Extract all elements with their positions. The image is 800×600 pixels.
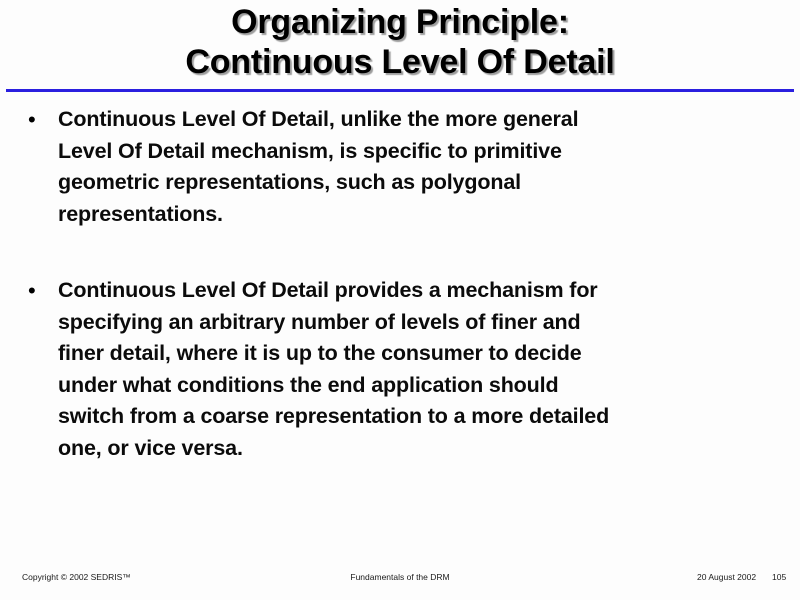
slide-canvas: Organizing Principle: Continuous Level O… bbox=[0, 0, 800, 600]
bullet-line: Level Of Detail mechanism, is specific t… bbox=[58, 136, 786, 168]
bullet-text: Continuous Level Of Detail provides a me… bbox=[58, 275, 786, 464]
bullet-line: representations. bbox=[58, 199, 786, 231]
slide-title: Organizing Principle: Continuous Level O… bbox=[0, 2, 800, 82]
bullet-line: specifying an arbitrary number of levels… bbox=[58, 307, 786, 339]
bullet-dot-icon: • bbox=[28, 275, 36, 306]
title-divider-rule bbox=[6, 89, 794, 92]
footer-deck-title: Fundamentals of the DRM bbox=[0, 572, 800, 582]
title-line-1: Organizing Principle: bbox=[0, 2, 800, 42]
bullet-dot-icon: • bbox=[28, 104, 36, 135]
bullet-line: Continuous Level Of Detail provides a me… bbox=[58, 275, 786, 307]
bullet-line: geometric representations, such as polyg… bbox=[58, 167, 786, 199]
footer-date: 20 August 2002 bbox=[697, 572, 756, 582]
bullet-line: under what conditions the end applicatio… bbox=[58, 370, 786, 402]
bullet-item: • Continuous Level Of Detail provides a … bbox=[16, 275, 786, 464]
slide-body: • Continuous Level Of Detail, unlike the… bbox=[16, 104, 786, 464]
bullet-text: Continuous Level Of Detail, unlike the m… bbox=[58, 104, 786, 230]
bullet-line: Continuous Level Of Detail, unlike the m… bbox=[58, 104, 786, 136]
bullet-item: • Continuous Level Of Detail, unlike the… bbox=[16, 104, 786, 230]
bullet-line: finer detail, where it is up to the cons… bbox=[58, 338, 786, 370]
slide-footer: Copyright © 2002 SEDRIS™ Fundamentals of… bbox=[0, 569, 800, 589]
bullet-line: switch from a coarse representation to a… bbox=[58, 401, 786, 433]
bullet-line: one, or vice versa. bbox=[58, 433, 786, 465]
bullet-spacer bbox=[16, 230, 786, 275]
title-line-2: Continuous Level Of Detail bbox=[0, 42, 800, 82]
footer-page-number: 105 bbox=[772, 572, 786, 582]
